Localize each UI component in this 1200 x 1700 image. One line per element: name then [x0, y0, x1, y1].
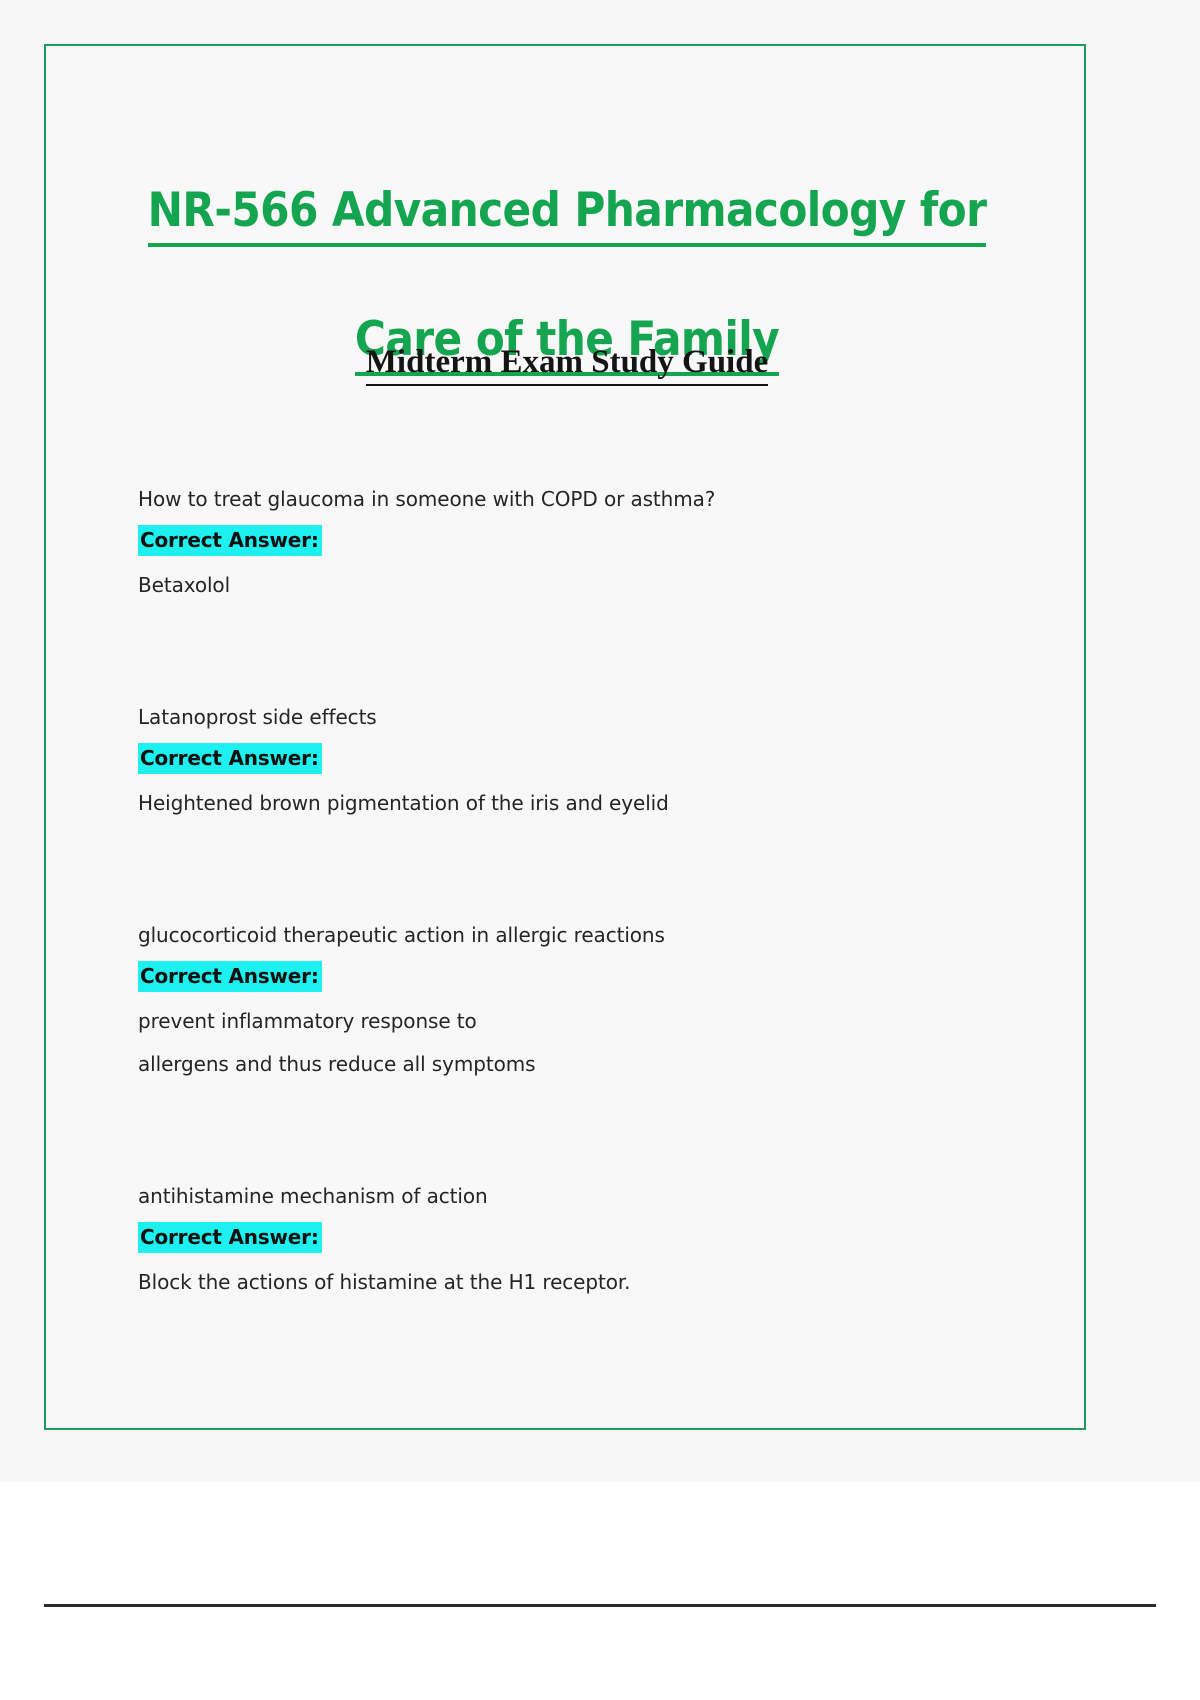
qa-answer-line: Betaxolol: [138, 564, 998, 607]
qa-question: How to treat glaucoma in someone with CO…: [138, 478, 998, 521]
page-subtitle: Midterm Exam Study Guide: [136, 341, 998, 386]
document-content-column: NR-566 Advanced Pharmacology for Care of…: [136, 46, 998, 1428]
correct-answer-label: Correct Answer:: [138, 743, 322, 774]
qa-answer-label-row: Correct Answer:: [138, 739, 998, 782]
qa-answer-line: prevent inflammatory response to: [138, 1000, 998, 1043]
qa-answer-line: allergens and thus reduce all symptoms: [138, 1043, 998, 1086]
qa-answer-line: Heightened brown pigmentation of the iri…: [138, 782, 998, 825]
next-page-divider: [44, 1604, 1156, 1607]
qa-answer-label-row: Correct Answer:: [138, 1218, 998, 1261]
correct-answer-label: Correct Answer:: [138, 1222, 322, 1253]
qa-answer-label-row: Correct Answer:: [138, 957, 998, 1000]
qa-answer-line: Block the actions of histamine at the H1…: [138, 1261, 998, 1304]
page-title-line-1: NR-566 Advanced Pharmacology for: [148, 180, 987, 247]
correct-answer-label: Correct Answer:: [138, 961, 322, 992]
page-subtitle-text: Midterm Exam Study Guide: [366, 341, 768, 386]
document-page: NR-566 Advanced Pharmacology for Care of…: [0, 0, 1200, 1700]
document-card: NR-566 Advanced Pharmacology for Care of…: [44, 44, 1086, 1430]
qa-block: How to treat glaucoma in someone with CO…: [138, 478, 998, 607]
qa-question: glucocorticoid therapeutic action in all…: [138, 914, 998, 957]
qa-question: Latanoprost side effects: [138, 696, 998, 739]
qa-answer-label-row: Correct Answer:: [138, 521, 998, 564]
correct-answer-label: Correct Answer:: [138, 525, 322, 556]
qa-block: antihistamine mechanism of action Correc…: [138, 1175, 998, 1304]
qa-block: Latanoprost side effects Correct Answer:…: [138, 696, 998, 825]
qa-block: glucocorticoid therapeutic action in all…: [138, 914, 998, 1086]
qa-list: How to treat glaucoma in someone with CO…: [138, 478, 998, 1304]
page-title: NR-566 Advanced Pharmacology for Care of…: [136, 118, 998, 376]
qa-question: antihistamine mechanism of action: [138, 1175, 998, 1218]
